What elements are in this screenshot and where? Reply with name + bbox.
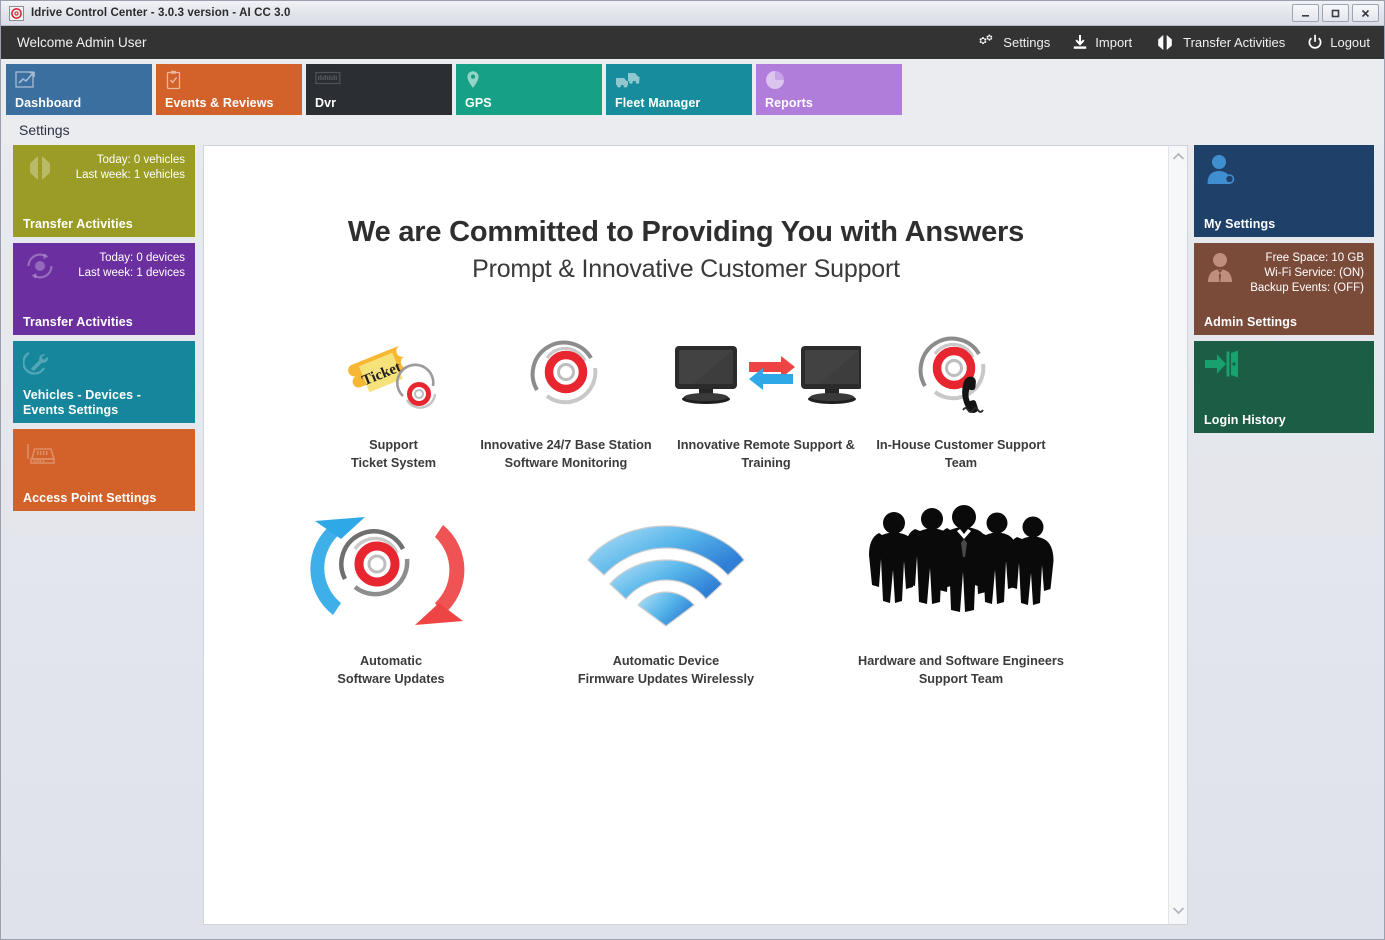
features-row-1: Ticket Support Ticket System: [204, 320, 1168, 472]
chart-line-icon: [15, 70, 37, 95]
tab-reports-label: Reports: [765, 96, 813, 110]
tab-events-reviews-label: Events & Reviews: [165, 96, 274, 110]
left-sidebar: Today: 0 vehicles Last week: 1 vehicles …: [13, 145, 195, 925]
breadcrumb: Settings: [1, 115, 1384, 145]
header-import-button[interactable]: Import: [1072, 34, 1132, 51]
tab-dvr-label: Dvr: [315, 96, 336, 110]
body-row: Today: 0 vehicles Last week: 1 vehicles …: [1, 145, 1384, 939]
tile-title: My Settings: [1204, 217, 1275, 231]
people-group-icon: [864, 500, 1059, 640]
close-button[interactable]: [1352, 4, 1379, 22]
tile-title: Login History: [1204, 413, 1286, 427]
tile-title: Access Point Settings: [23, 491, 156, 505]
feature-automatic-software-updates: Automatic Software Updates: [266, 500, 516, 688]
tile-title: Transfer Activities: [23, 315, 133, 329]
transfer-arrows-icon: [23, 153, 57, 188]
feature-caption: Automatic Software Updates: [337, 652, 444, 688]
dvr-icon: [315, 70, 341, 92]
pie-chart-icon: [765, 70, 785, 95]
feature-firmware-updates-wirelessly: Automatic Device Firmware Updates Wirele…: [516, 500, 816, 688]
page-title: We are Committed to Providing You with A…: [204, 216, 1168, 249]
feature-support-ticket-system: Ticket Support Ticket System: [319, 320, 469, 472]
user-icon: [1204, 153, 1240, 190]
right-sidebar: My Settings Free Space: 10 GB Wi-Fi Serv…: [1194, 145, 1374, 925]
window-title: Idrive Control Center - 3.0.3 version - …: [31, 7, 290, 19]
tile-my-settings[interactable]: My Settings: [1194, 145, 1374, 237]
tab-fleet-manager-label: Fleet Manager: [615, 96, 700, 110]
tile-title: Transfer Activities: [23, 217, 133, 231]
chevron-up-icon[interactable]: [1172, 152, 1185, 164]
tab-dashboard-label: Dashboard: [15, 96, 81, 110]
clipboard-icon: [165, 70, 183, 96]
feature-caption: Support Ticket System: [351, 436, 436, 472]
page-subtitle: Prompt & Innovative Customer Support: [204, 255, 1168, 284]
tile-title: Admin Settings: [1204, 315, 1297, 329]
content-panel: We are Committed to Providing You with A…: [203, 145, 1168, 925]
header-settings-label: Settings: [1003, 35, 1050, 50]
feature-in-house-support-team: In-House Customer Support Team: [869, 320, 1054, 472]
welcome-message: Welcome Admin User: [17, 35, 147, 50]
feature-caption: Automatic Device Firmware Updates Wirele…: [578, 652, 754, 688]
chevron-down-icon[interactable]: [1172, 906, 1185, 918]
feature-caption: Hardware and Software Engineers Support …: [858, 652, 1064, 688]
feature-base-station-monitoring: Innovative 24/7 Base Station Software Mo…: [469, 320, 664, 472]
headline-block: We are Committed to Providing You with A…: [204, 216, 1168, 284]
download-icon: [1072, 34, 1088, 51]
map-pin-icon: [465, 70, 481, 96]
target-refresh-arrows-icon: [303, 500, 479, 640]
target-ring-icon: [523, 320, 609, 424]
tab-dashboard[interactable]: Dashboard: [6, 64, 152, 115]
tab-reports[interactable]: Reports: [756, 64, 902, 115]
features-row-2: Automatic Software Updates: [204, 500, 1168, 688]
ticket-target-icon: Ticket: [344, 320, 444, 424]
header-transfer-label: Transfer Activities: [1183, 35, 1285, 50]
tab-gps-label: GPS: [465, 96, 492, 110]
target-icon: [9, 6, 24, 21]
feature-caption: In-House Customer Support Team: [876, 436, 1045, 472]
feature-caption: Innovative Remote Support & Training: [677, 436, 855, 472]
feature-hardware-software-engineers: Hardware and Software Engineers Support …: [816, 500, 1106, 688]
feature-caption: Innovative 24/7 Base Station Software Mo…: [480, 436, 651, 472]
power-icon: [1307, 34, 1323, 51]
content-area: We are Committed to Providing You with A…: [203, 145, 1188, 925]
router-icon: [23, 437, 61, 472]
header-logout-label: Logout: [1330, 35, 1370, 50]
tab-gps[interactable]: GPS: [456, 64, 602, 115]
header-import-label: Import: [1095, 35, 1132, 50]
admin-user-icon: [1204, 251, 1236, 288]
transfer-arrows-icon: [1154, 34, 1176, 51]
tile-vehicles-devices-events-settings[interactable]: Vehicles - Devices - Events Settings: [13, 341, 195, 423]
header-actions: Settings Import Transf: [976, 34, 1370, 52]
tile-transfer-activities-vehicles[interactable]: Today: 0 vehicles Last week: 1 vehicles …: [13, 145, 195, 237]
vehicles-icon: [615, 70, 641, 95]
tab-events-reviews[interactable]: Events & Reviews: [156, 64, 302, 115]
maximize-button[interactable]: [1322, 4, 1349, 22]
tab-dvr[interactable]: Dvr: [306, 64, 452, 115]
feature-remote-support-training: Innovative Remote Support & Training: [664, 320, 869, 472]
wrench-icon: [23, 349, 57, 384]
login-door-icon: [1204, 349, 1240, 384]
header-bar: Welcome Admin User Settings: [1, 26, 1384, 59]
tile-transfer-activities-devices[interactable]: Today: 0 devices Last week: 1 devices Tr…: [13, 243, 195, 335]
two-monitors-transfer-icon: [671, 320, 861, 424]
target-phone-icon: [913, 320, 1009, 424]
title-bar: Idrive Control Center - 3.0.3 version - …: [1, 1, 1384, 26]
header-settings-button[interactable]: Settings: [976, 34, 1050, 52]
content-scrollbar[interactable]: [1168, 145, 1188, 925]
minimize-button[interactable]: [1292, 4, 1319, 22]
main-navigation-tabs: Dashboard Events & Reviews: [1, 59, 1384, 115]
window-controls: [1292, 4, 1382, 22]
application-window: Idrive Control Center - 3.0.3 version - …: [0, 0, 1385, 940]
tile-title: Vehicles - Devices - Events Settings: [23, 388, 183, 417]
tile-login-history[interactable]: Login History: [1194, 341, 1374, 433]
wifi-icon: [586, 500, 746, 640]
header-logout-button[interactable]: Logout: [1307, 34, 1370, 51]
tile-access-point-settings[interactable]: Access Point Settings: [13, 429, 195, 511]
tile-admin-settings[interactable]: Free Space: 10 GB Wi-Fi Service: (ON) Ba…: [1194, 243, 1374, 335]
breadcrumb-label: Settings: [19, 122, 70, 138]
tab-fleet-manager[interactable]: Fleet Manager: [606, 64, 752, 115]
gears-icon: [976, 34, 996, 52]
header-transfer-activities-button[interactable]: Transfer Activities: [1154, 34, 1285, 51]
sync-target-icon: [23, 251, 57, 286]
